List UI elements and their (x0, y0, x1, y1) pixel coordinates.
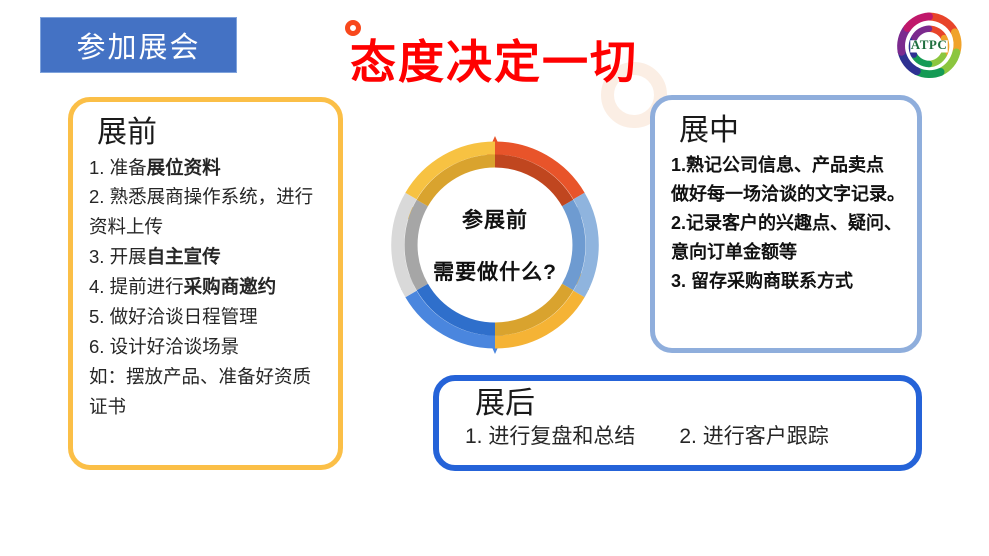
donut-diagram: 参展前 需要做什么? (382, 132, 608, 358)
list-item: 证书 (89, 392, 322, 422)
list-item: 2. 熟悉展商操作系统，进行 (89, 182, 322, 212)
card-post-items: 1. 进行复盘和总结 2. 进行客户跟踪 (465, 420, 900, 454)
slide-canvas: 参加展会 态度决定一切 ATPC (0, 0, 989, 556)
list-item: 资料上传 (89, 212, 322, 242)
list-item: 2.记录客户的兴趣点、疑问、 (671, 209, 903, 238)
list-item: 3. 开展自主宣传 (89, 242, 322, 272)
list-item: 6. 设计好洽谈场景 (89, 332, 322, 362)
logo-text: ATPC (893, 37, 965, 53)
section-badge: 参加展会 (40, 17, 237, 73)
list-item: 1. 进行复盘和总结 (465, 420, 635, 454)
list-item: 意向订单金额等 (671, 238, 903, 267)
atpc-logo: ATPC (893, 10, 965, 82)
card-mid-exhibition: 展中 1.熟记公司信息、产品卖点 做好每一场洽谈的文字记录。 2.记录客户的兴趣… (650, 95, 922, 353)
card-mid-heading: 展中 (679, 114, 903, 149)
list-item: 3. 留存采购商联系方式 (671, 267, 903, 296)
donut-inner-ring (411, 161, 579, 329)
list-item: 1.熟记公司信息、产品卖点 (671, 151, 903, 180)
donut-outer-ring (398, 148, 593, 342)
card-post-exhibition: 展后 1. 进行复盘和总结 2. 进行客户跟踪 (433, 375, 922, 471)
section-badge-label: 参加展会 (76, 24, 200, 66)
donut-rings-icon (382, 132, 608, 358)
list-item: 5. 做好洽谈日程管理 (89, 302, 322, 332)
list-item: 做好每一场洽谈的文字记录。 (671, 180, 903, 209)
list-item: 4. 提前进行采购商邀约 (89, 272, 322, 302)
page-title: 态度决定一切 (350, 26, 638, 92)
card-pre-items: 1. 准备展位资料 2. 熟悉展商操作系统，进行 资料上传 3. 开展自主宣传 … (89, 153, 322, 423)
list-item: 如：摆放产品、准备好资质 (89, 362, 322, 392)
list-item: 2. 进行客户跟踪 (679, 420, 828, 454)
list-item: 1. 准备展位资料 (89, 153, 322, 183)
card-mid-items: 1.熟记公司信息、产品卖点 做好每一场洽谈的文字记录。 2.记录客户的兴趣点、疑… (671, 151, 903, 297)
card-pre-heading: 展前 (97, 116, 322, 151)
card-post-heading: 展后 (475, 387, 900, 420)
card-pre-exhibition: 展前 1. 准备展位资料 2. 熟悉展商操作系统，进行 资料上传 3. 开展自主… (68, 97, 343, 470)
